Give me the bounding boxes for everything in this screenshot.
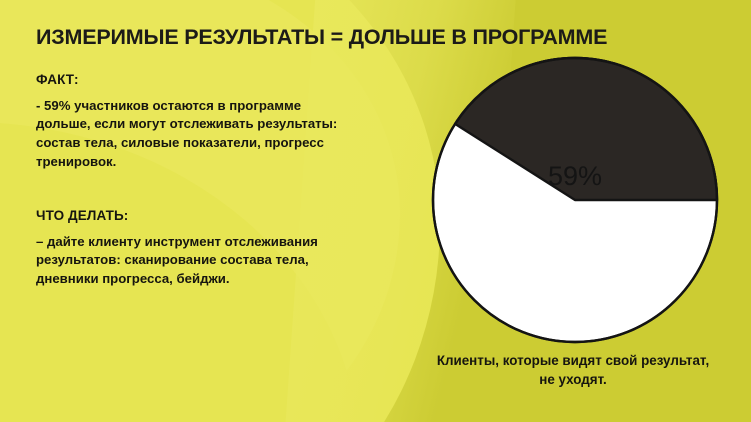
section-fact-line: тренировок. xyxy=(36,153,406,172)
section-fact: ФАКТ: - 59% участников остаются в програ… xyxy=(36,72,406,172)
section-action-body: – дайте клиенту инструмент отслеживания … xyxy=(36,233,406,289)
pie-chart: 59% xyxy=(414,44,736,356)
section-fact-line: дольше, если могут отслеживать результат… xyxy=(36,115,406,134)
section-action-line: – дайте клиенту инструмент отслеживания xyxy=(36,233,406,252)
page-title: ИЗМЕРИМЫЕ РЕЗУЛЬТАТЫ = ДОЛЬШЕ В ПРОГРАММ… xyxy=(36,26,406,50)
section-fact-label: ФАКТ: xyxy=(36,72,406,87)
section-action-label: ЧТО ДЕЛАТЬ: xyxy=(36,208,406,223)
section-action: ЧТО ДЕЛАТЬ: – дайте клиенту инструмент о… xyxy=(36,208,406,289)
section-fact-body: - 59% участников остаются в программе до… xyxy=(36,97,406,172)
pie-center-label: 59% xyxy=(414,161,736,192)
chart-caption-line: Клиенты, которые видят свой результат, xyxy=(395,352,751,371)
section-action-line: результатов: сканирование состава тела, xyxy=(36,251,406,270)
slide-canvas: ИЗМЕРИМЫЕ РЕЗУЛЬТАТЫ = ДОЛЬШЕ В ПРОГРАММ… xyxy=(0,0,751,422)
chart-caption: Клиенты, которые видят свой результат, н… xyxy=(395,352,751,389)
section-fact-line: - 59% участников остаются в программе xyxy=(36,97,406,116)
section-action-line: дневники прогресса, бейджи. xyxy=(36,270,406,289)
section-fact-line: состав тела, силовые показатели, прогрес… xyxy=(36,134,406,153)
chart-caption-line: не уходят. xyxy=(395,371,751,390)
left-text-column: ИЗМЕРИМЫЕ РЕЗУЛЬТАТЫ = ДОЛЬШЕ В ПРОГРАММ… xyxy=(36,26,406,289)
pie-chart-svg xyxy=(414,44,736,356)
